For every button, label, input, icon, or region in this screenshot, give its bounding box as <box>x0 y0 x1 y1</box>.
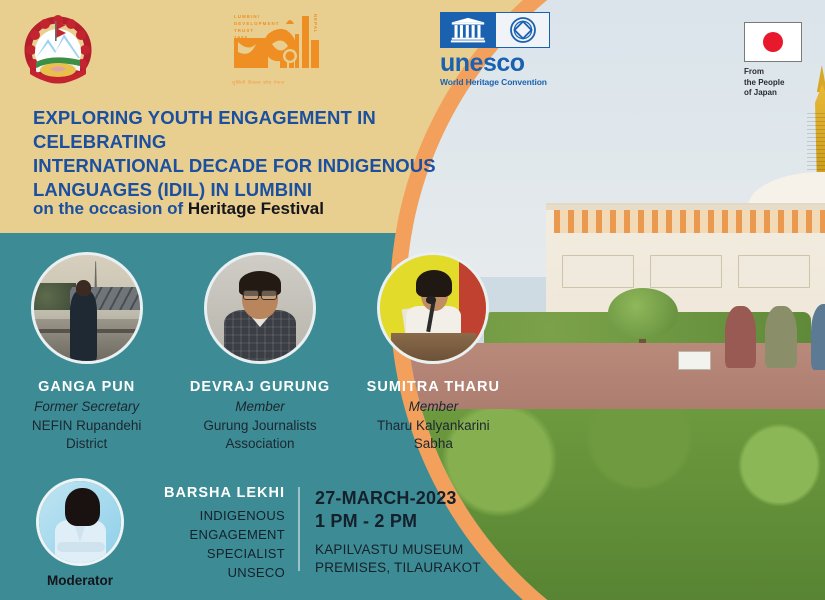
occasion-line: on the occasion of Heritage Festival <box>33 198 324 220</box>
unesco-wordmark: unesco <box>440 50 550 76</box>
speaker-role: Member <box>347 398 520 417</box>
speaker-role: Former Secretary <box>0 398 173 417</box>
page-title: EXPLORING YOUTH ENGAGEMENT IN CELEBRATIN… <box>33 106 503 202</box>
ganga-pun-photo <box>31 252 143 364</box>
speakers-row: GANGA PUN Former Secretary NEFIN Rupande… <box>0 252 520 454</box>
devraj-gurung-photo <box>204 252 316 364</box>
ldt-caption: लुम्बिनी विकास कोष नेपाल <box>232 80 285 86</box>
nepal-government-emblem <box>22 12 94 84</box>
barsha-lekhi-photo <box>36 478 124 566</box>
temple-windows <box>562 255 825 288</box>
unesco-subtitle: World Heritage Convention <box>440 77 550 87</box>
moderator-role-line: SPECIALIST <box>150 544 285 563</box>
moderator-role: INDIGENOUS ENGAGEMENT SPECIALIST UNSECO <box>150 506 285 582</box>
speaker-name: GANGA PUN <box>0 379 173 395</box>
visitors-group-left <box>725 306 803 368</box>
japan-badge-text: From the People of Japan <box>744 67 820 99</box>
vertical-divider <box>298 487 300 571</box>
topiary-bush <box>608 288 678 339</box>
japan-flag-badge: From the People of Japan <box>744 22 820 94</box>
japan-line-2: the People <box>744 78 820 89</box>
event-venue: KAPILVASTU MUSEUM PREMISES, TILAURAKOT <box>315 541 515 577</box>
ldt-line-3: TRUST <box>234 28 254 34</box>
japan-line-3: of Japan <box>744 88 820 99</box>
moderator-role-line: INDIGENOUS <box>150 506 285 525</box>
sumitra-tharu-photo <box>377 252 489 364</box>
speaker-name: SUMITRA THARU <box>347 379 520 395</box>
unesco-temple-icon <box>440 12 495 48</box>
speaker-card: SUMITRA THARU Member Tharu Kalyankarini … <box>347 252 520 454</box>
unesco-logo: unesco World Heritage Convention <box>440 12 550 78</box>
speaker-card: GANGA PUN Former Secretary NEFIN Rupande… <box>0 252 173 454</box>
moderator-name: BARSHA LEKHI <box>150 485 285 501</box>
speaker-org-line: Tharu Kalyankarini <box>347 417 520 436</box>
speaker-role: Member <box>173 398 346 417</box>
speaker-org-line: NEFIN Rupandehi <box>0 417 173 436</box>
lumbini-development-trust-logo: LUMBINI DEVELOPMENT TRUST 1985 NEPAL लुम… <box>228 8 324 86</box>
event-details: 27-MARCH-2023 1 PM - 2 PM KAPILVASTU MUS… <box>315 487 515 577</box>
moderator-block: Moderator <box>28 478 132 588</box>
speaker-card: DEVRAJ GURUNG Member Gurung Journalists … <box>173 252 346 454</box>
venue-line-2: PREMISES, TILAURAKOT <box>315 559 515 577</box>
moderator-details: BARSHA LEKHI INDIGENOUS ENGAGEMENT SPECI… <box>150 485 285 582</box>
event-poster: From the People of Japan <box>0 0 825 600</box>
visitors-group <box>811 304 825 370</box>
ldt-line-1: LUMBINI <box>234 14 260 20</box>
japan-line-1: From <box>744 67 820 78</box>
moderator-role-line: ENGAGEMENT <box>150 525 285 544</box>
ldt-line-4: 1985 <box>234 35 248 41</box>
speaker-name: DEVRAJ GURUNG <box>173 379 346 395</box>
moderator-label: Moderator <box>28 573 132 588</box>
venue-line-1: KAPILVASTU MUSEUM <box>315 541 515 559</box>
speaker-org-line: Sabha <box>347 435 520 454</box>
occasion-event: Heritage Festival <box>188 199 324 218</box>
event-date: 27-MARCH-2023 <box>315 487 515 510</box>
speaker-org-line: Association <box>173 435 346 454</box>
spire-rings <box>807 113 825 175</box>
world-heritage-emblem-icon <box>495 12 550 48</box>
japan-flag-icon <box>744 22 802 62</box>
information-sign <box>678 351 711 370</box>
title-line-2: INTERNATIONAL DECADE FOR INDIGENOUS <box>33 154 503 178</box>
event-time: 1 PM - 2 PM <box>315 510 515 533</box>
ldt-line-2: DEVELOPMENT <box>234 21 280 27</box>
speaker-org-line: Gurung Journalists <box>173 417 346 436</box>
moderator-organization: UNSECO <box>150 563 285 582</box>
ldt-vertical-text: NEPAL <box>313 14 318 34</box>
occasion-prefix: on the occasion of <box>33 199 183 218</box>
speaker-org-line: District <box>0 435 173 454</box>
title-line-1: EXPLORING YOUTH ENGAGEMENT IN CELEBRATIN… <box>33 106 503 154</box>
decorative-banners <box>554 210 825 233</box>
